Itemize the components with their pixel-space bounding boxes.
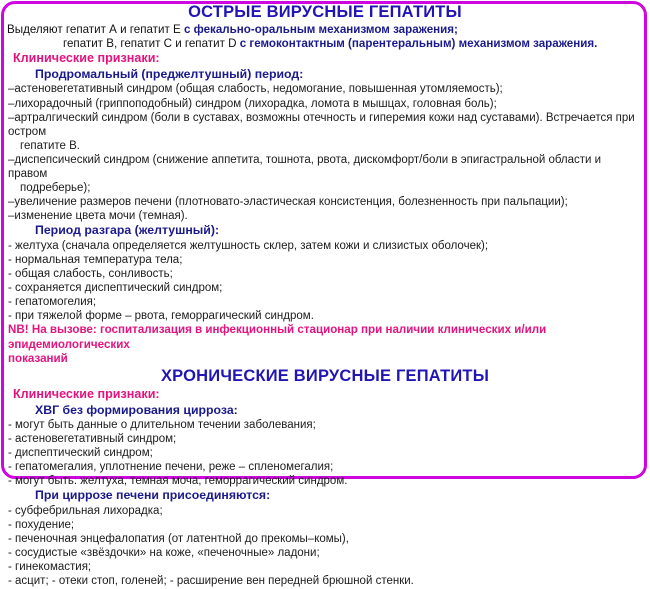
list-item: –астеновегетативный синдром (общая слабо… xyxy=(7,82,643,96)
list-item: - гепатомогелия; xyxy=(7,295,643,309)
list-item: –увеличение размеров печени (плотновато-… xyxy=(7,195,643,209)
acute-intro-line-1-bold: с фекально-оральным механизмом заражения… xyxy=(181,23,458,36)
nb-note-line-1: NB! На вызове: госпитализация в инфекцио… xyxy=(7,323,643,351)
list-item: - при тяжелой форме – рвота, геморрагиче… xyxy=(7,309,643,323)
acute-peak-period-heading: Период разгара (желтушный): xyxy=(7,223,643,239)
acute-hepatitis-title: ОСТРЫЕ ВИРУСНЫЕ ГЕПАТИТЫ xyxy=(7,3,643,22)
list-item: - асцит; - отеки стоп, голеней; - расшир… xyxy=(7,574,643,588)
list-item-continuation-text: гепатите В. xyxy=(8,139,643,153)
list-item: - субфебрильная лихорадка; xyxy=(7,504,643,518)
acute-clinical-signs-heading: Клинические признаки: xyxy=(7,51,643,67)
list-item: - общая слабость, сонливость; xyxy=(7,267,643,281)
list-item: - могут быть данные о длительном течении… xyxy=(7,418,643,432)
acute-prodromal-heading: Продромальный (преджелтушный) период: xyxy=(7,67,643,83)
list-item: - печеночная энцефалопатия (от латентной… xyxy=(7,532,643,546)
acute-intro-line-1: Выделяют гепатит А и гепатит Е с фекальн… xyxy=(7,23,643,37)
list-item: - похудение; xyxy=(7,518,643,532)
list-item-continuation: гепатите В. xyxy=(7,139,643,153)
acute-intro-line-1-plain: Выделяют гепатит А и гепатит Е xyxy=(7,23,181,36)
chronic-clinical-signs-heading: Клинические признаки: xyxy=(7,387,643,403)
slide-root: ОСТРЫЕ ВИРУСНЫЕ ГЕПАТИТЫ Выделяют гепати… xyxy=(0,0,650,488)
list-item-continuation: подреберье); xyxy=(7,181,643,195)
list-item: –диспепсический синдром (снижение аппети… xyxy=(7,153,643,181)
list-item: - сохраняется диспептический синдром; xyxy=(7,281,643,295)
list-item: - нормальная температура тела; xyxy=(7,253,643,267)
chronic-no-cirrhosis-heading: ХВГ без формирования цирроза: xyxy=(7,403,643,419)
list-item: - диспептический синдром; xyxy=(7,446,643,460)
acute-intro-line-2-plain: гепатит B, гепатит C и гепатит D xyxy=(63,37,236,50)
chronic-cirrhosis-heading: При циррозе печени присоединяются: xyxy=(7,488,643,504)
list-item: - гинекомастия; xyxy=(7,560,643,574)
list-item-continuation-text: подреберье); xyxy=(8,181,643,195)
list-item: - желтуха (сначала определяется желтушно… xyxy=(7,239,643,253)
list-item: - могут быть: желтуха, темная моча, гемо… xyxy=(7,474,643,488)
chronic-hepatitis-title: ХРОНИЧЕСКИЕ ВИРУСНЫЕ ГЕПАТИТЫ xyxy=(7,367,643,386)
list-item: - астеновегетативный синдром; xyxy=(7,432,643,446)
slide-content: ОСТРЫЕ ВИРУСНЫЕ ГЕПАТИТЫ Выделяют гепати… xyxy=(0,0,650,589)
list-item: –изменение цвета мочи (темная). xyxy=(7,209,643,223)
nb-note-line-2: показаний xyxy=(7,352,643,366)
acute-intro-line-2-bold: с гемоконтактным (парентеральным) механи… xyxy=(236,37,597,50)
list-item: - гепатомегалия, уплотнение печени, реже… xyxy=(7,460,643,474)
list-item: –лихорадочный (гриппоподобный) синдром (… xyxy=(7,97,643,111)
acute-intro-line-2: гепатит B, гепатит C и гепатит D с гемок… xyxy=(7,37,643,51)
list-item: –артралгический синдром (боли в суставах… xyxy=(7,111,643,139)
list-item: - сосудистые «звёздочки» на коже, «печен… xyxy=(7,546,643,560)
